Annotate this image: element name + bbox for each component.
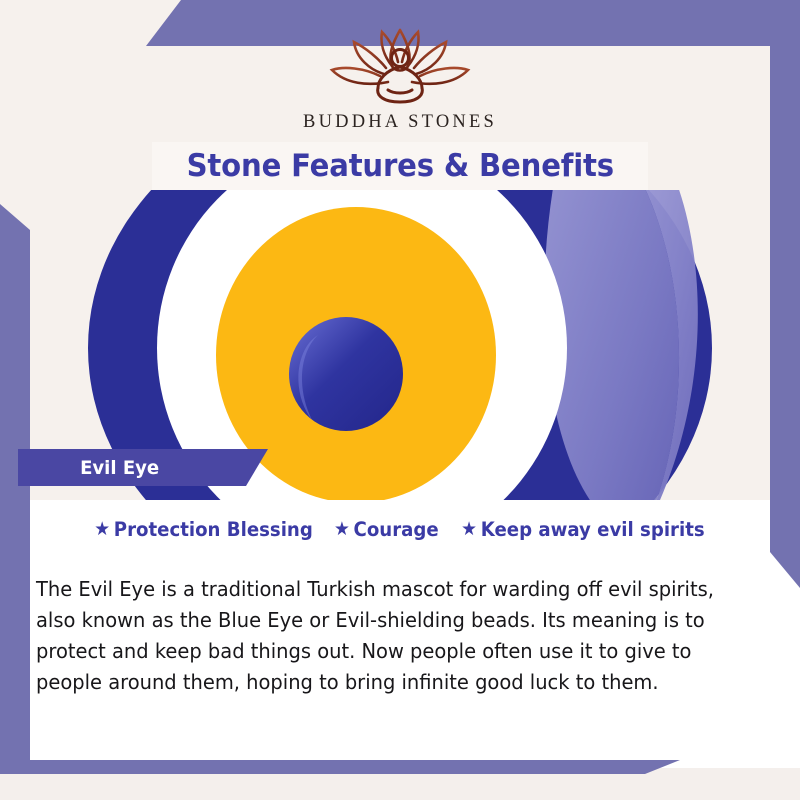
stone-name-label: Evil Eye xyxy=(80,457,159,479)
description-text: The Evil Eye is a traditional Turkish ma… xyxy=(36,574,739,698)
benefit-item-0: ★ Protection Blessing xyxy=(94,518,313,541)
page-title: Stone Features & Benefits xyxy=(152,142,648,190)
brand-name: BUDDHA STONES xyxy=(0,112,800,133)
benefit-item-2: ★ Keep away evil spirits xyxy=(461,518,705,541)
benefit-label-1: Courage xyxy=(354,518,439,541)
star-icon: ★ xyxy=(94,520,110,539)
status-badge: Evil Eye xyxy=(18,449,268,486)
poster-canvas: BUDDHA STONES Stone Features & Benefits xyxy=(0,0,800,800)
star-icon: ★ xyxy=(461,520,477,539)
decorative-band-bottom xyxy=(0,760,680,774)
benefit-label-2: Keep away evil spirits xyxy=(481,518,705,541)
benefits-list: ★ Protection Blessing ★ Courage ★ Keep a… xyxy=(30,518,770,541)
star-icon: ★ xyxy=(334,520,350,539)
benefit-label-0: Protection Blessing xyxy=(114,518,313,541)
lotus-meditation-icon xyxy=(310,26,490,108)
page-title-text: Stone Features & Benefits xyxy=(186,148,613,184)
benefit-item-1: ★ Courage xyxy=(334,518,439,541)
brand-logo: BUDDHA STONES xyxy=(0,26,800,133)
